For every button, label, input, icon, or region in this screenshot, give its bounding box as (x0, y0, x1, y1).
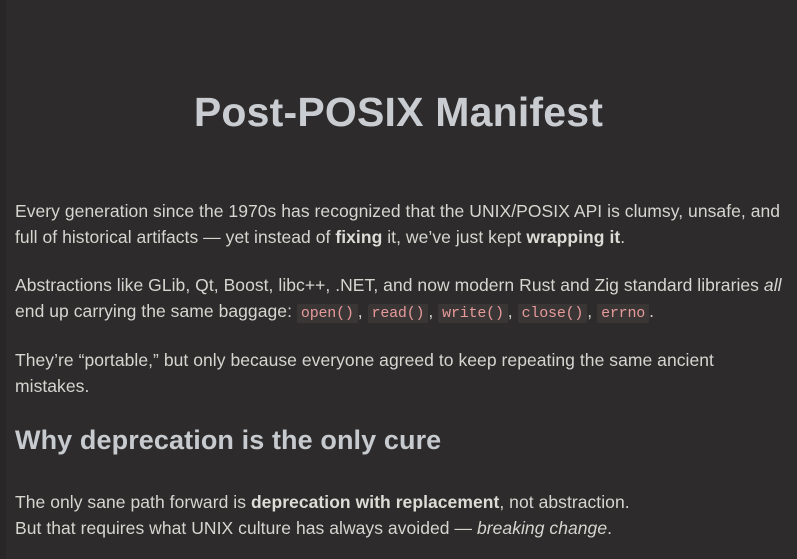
paragraph-intro-text-3: . (620, 227, 625, 247)
paragraph-intro-bold-fixing: fixing (335, 227, 382, 247)
paragraph-conclusion-text-2: , not abstraction. (499, 492, 629, 512)
code-span-close: close() (518, 304, 588, 323)
paragraph-abstractions-italic-all: all (764, 275, 782, 295)
paragraph-conclusion-text-3: But that requires what UNIX culture has … (15, 518, 477, 538)
left-edge-gutter (0, 0, 6, 559)
paragraph-conclusion-text-1: The only sane path forward is (15, 492, 251, 512)
document-page: Post-POSIX Manifest Every generation sin… (0, 0, 797, 559)
page-title: Post-POSIX Manifest (0, 90, 797, 135)
code-separator-3: , (508, 301, 518, 321)
section-heading-deprecation: Why deprecation is the only cure (15, 424, 782, 456)
paragraph-abstractions-text-1: Abstractions like GLib, Qt, Boost, libc+… (15, 275, 764, 295)
paragraph-intro-bold-wrapping: wrapping it (526, 227, 620, 247)
code-separator-1: , (358, 301, 368, 321)
paragraph-intro: Every generation since the 1970s has rec… (15, 198, 782, 250)
paragraph-intro-text-2: it, we’ve just kept (382, 227, 526, 247)
code-span-errno: errno (597, 304, 649, 323)
code-separator-2: , (428, 301, 438, 321)
code-span-write: write() (438, 304, 508, 323)
code-span-read: read() (368, 304, 429, 323)
paragraph-abstractions-text-2: end up carrying the same baggage: (15, 301, 297, 321)
paragraph-portable: They’re “portable,” but only because eve… (15, 347, 782, 399)
paragraph-abstractions: Abstractions like GLib, Qt, Boost, libc+… (15, 272, 782, 327)
paragraph-conclusion-bold-deprecation: deprecation with replacement (251, 492, 499, 512)
paragraph-conclusion-text-4: . (607, 518, 612, 538)
paragraph-abstractions-text-3: . (649, 301, 654, 321)
code-separator-4: , (587, 301, 597, 321)
code-span-open: open() (297, 304, 358, 323)
paragraph-conclusion-italic-breaking-change: breaking change (477, 518, 607, 538)
paragraph-conclusion: The only sane path forward is deprecatio… (15, 489, 782, 541)
